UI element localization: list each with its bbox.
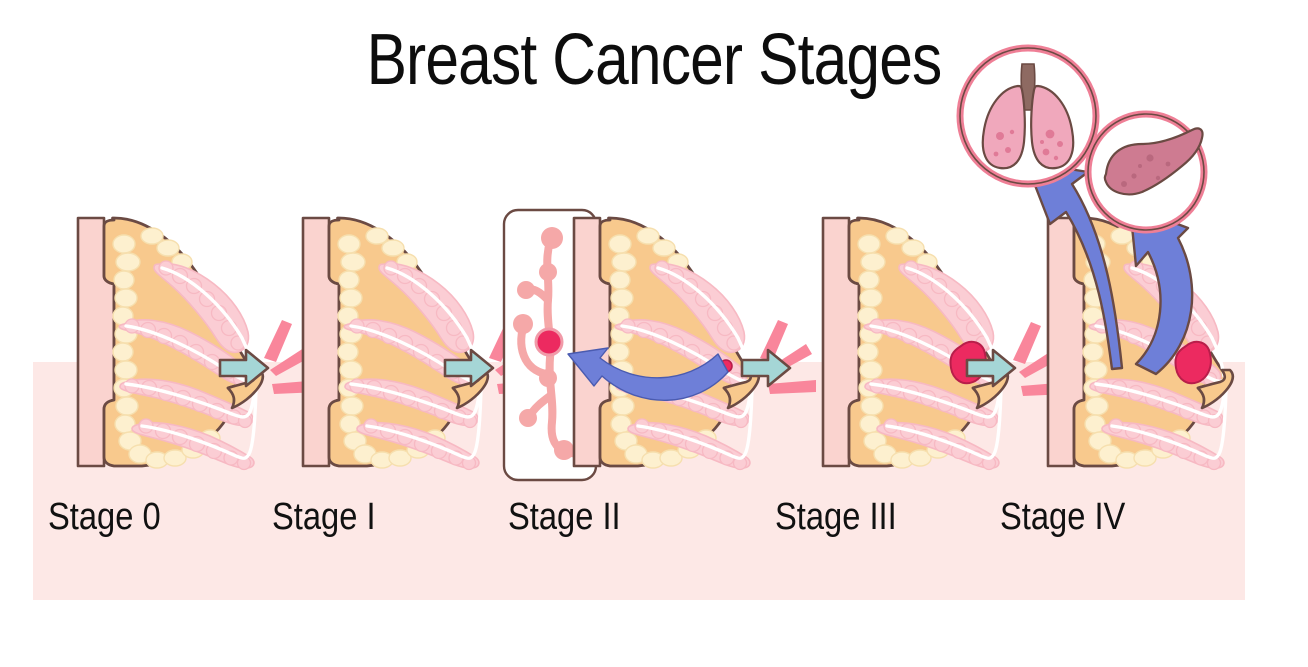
stage-panel-0[interactable]: [40, 196, 290, 496]
stage-label-3: Stage III: [775, 494, 990, 540]
breast-cross-section: [78, 218, 263, 470]
stage-1-illustration: [265, 196, 515, 496]
breast-cross-section: [303, 218, 488, 470]
inset-liver[interactable]: [1088, 114, 1204, 230]
progress-arrow-1-2: [443, 348, 495, 388]
stage-label-4: Stage IV: [1000, 494, 1215, 540]
diagram-root: Breast Cancer Stages: [0, 0, 1308, 667]
progress-arrow-0-1: [218, 348, 270, 388]
stage-panel-1[interactable]: [265, 196, 515, 496]
affected-lymph-node: [536, 329, 562, 355]
stage-2-illustration: [490, 196, 760, 496]
stage-panel-2[interactable]: [490, 196, 760, 496]
breast-cross-section: [574, 218, 759, 470]
stage-label-1: Stage I: [272, 494, 487, 540]
metastasis-insets: [930, 24, 1230, 264]
stage-0-illustration: [40, 196, 290, 496]
stage-label-0: Stage 0: [48, 494, 263, 540]
stage-label-2: Stage II: [508, 494, 723, 540]
metastasis-illustration: [930, 24, 1230, 404]
inset-lungs[interactable]: [960, 48, 1096, 184]
